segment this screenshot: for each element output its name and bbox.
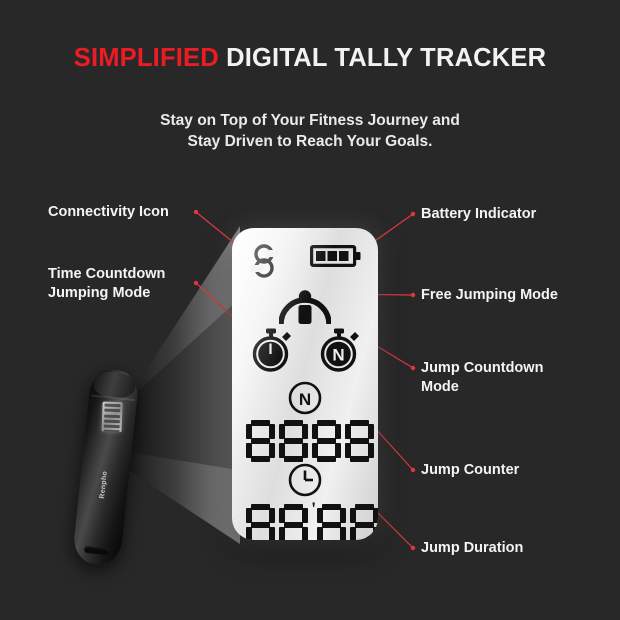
segment-b	[373, 508, 378, 523]
segment-e	[350, 527, 356, 540]
segment-f	[279, 424, 285, 439]
segment-e	[345, 443, 351, 458]
segment-g	[251, 438, 270, 444]
segment-a	[355, 504, 374, 510]
page-subtitle: Stay on Top of Your Fitness Journey and …	[0, 110, 620, 152]
callout-free-jumping-mode: Free Jumping Mode	[421, 286, 601, 305]
segment-a	[251, 504, 270, 510]
seven-segment-digit	[246, 420, 275, 462]
callout-connectivity-icon: Connectivity Icon	[48, 203, 193, 222]
page-title: SIMPLIFIED DIGITAL TALLY TRACKER	[0, 44, 620, 73]
subtitle-line-2: Stay Driven to Reach Your Goals.	[0, 131, 620, 152]
segment-g	[284, 438, 303, 444]
segment-f	[246, 508, 252, 523]
seven-segment-digit	[350, 504, 378, 540]
segment-a	[251, 420, 270, 426]
segment-b	[335, 424, 341, 439]
handle-mini-display	[102, 402, 123, 433]
segment-e	[312, 443, 318, 458]
circled-n-icon: N	[287, 380, 323, 416]
jump-counter-display	[246, 420, 378, 462]
segment-e	[279, 443, 285, 458]
segment-g	[284, 522, 303, 528]
stopwatch-n-icon: N	[317, 328, 361, 372]
jump-duration-display: '"	[246, 504, 378, 540]
segment-f	[279, 508, 285, 523]
segment-f	[312, 424, 318, 439]
segment-b	[340, 508, 346, 523]
segment-c	[340, 527, 346, 540]
callout-jump-duration: Jump Duration	[421, 539, 601, 558]
segment-f	[317, 508, 323, 523]
battery-bar-3	[339, 251, 349, 261]
segment-c	[302, 527, 308, 540]
svg-text:N: N	[332, 346, 344, 365]
callout-time-countdown-jumping-mode: Time Countdown Jumping Mode	[48, 265, 193, 303]
segment-a	[284, 420, 303, 426]
segment-b	[302, 424, 308, 439]
minute-mark: '	[311, 500, 316, 519]
segment-d	[251, 456, 270, 462]
segment-f	[246, 424, 252, 439]
segment-g	[355, 522, 374, 528]
segment-c	[373, 527, 378, 540]
circled-clock-icon	[287, 462, 323, 498]
jump-rope-handle: Renpho	[72, 367, 140, 566]
segment-b	[269, 424, 275, 439]
segment-d	[284, 456, 303, 462]
seven-segment-digit	[279, 420, 308, 462]
callout-jump-countdown-mode: Jump Countdown Mode	[421, 359, 571, 397]
segment-a	[284, 504, 303, 510]
segment-e	[317, 527, 323, 540]
segment-b	[302, 508, 308, 523]
segment-b	[368, 424, 374, 439]
poster-canvas: SIMPLIFIED DIGITAL TALLY TRACKER Stay on…	[0, 0, 620, 620]
callout-battery-indicator: Battery Indicator	[421, 205, 601, 224]
callout-jump-counter: Jump Counter	[421, 461, 601, 480]
stopwatch-icon	[249, 328, 293, 372]
title-rest: DIGITAL TALLY TRACKER	[219, 44, 546, 72]
subtitle-line-1: Stay on Top of Your Fitness Journey and	[0, 110, 620, 131]
seven-segment-digit	[246, 504, 275, 540]
segment-c	[269, 527, 275, 540]
seven-segment-digit	[279, 504, 308, 540]
segment-e	[246, 527, 252, 540]
segment-e	[279, 527, 285, 540]
segment-f	[345, 424, 351, 439]
battery-bar-2	[328, 251, 338, 261]
segment-g	[350, 438, 369, 444]
battery-icon	[310, 245, 362, 267]
title-highlight: SIMPLIFIED	[74, 44, 219, 72]
projected-display-panel: N N '"	[232, 228, 378, 540]
seven-segment-digit	[317, 504, 346, 540]
battery-bar-1	[316, 251, 326, 261]
segment-a	[317, 420, 336, 426]
seven-segment-digit	[345, 420, 374, 462]
segment-g	[251, 522, 270, 528]
segment-d	[317, 456, 336, 462]
handle-bottom-port	[84, 546, 111, 556]
connectivity-icon	[249, 244, 279, 278]
svg-text:N: N	[299, 390, 311, 409]
person-jumping-rope-icon	[279, 282, 331, 324]
segment-a	[350, 420, 369, 426]
brand-logo: Renpho	[98, 466, 109, 505]
segment-d	[350, 456, 369, 462]
segment-f	[350, 508, 356, 523]
segment-g	[322, 522, 341, 528]
segment-a	[322, 504, 341, 510]
segment-e	[246, 443, 252, 458]
seven-segment-digit	[312, 420, 341, 462]
segment-b	[269, 508, 275, 523]
segment-g	[317, 438, 336, 444]
